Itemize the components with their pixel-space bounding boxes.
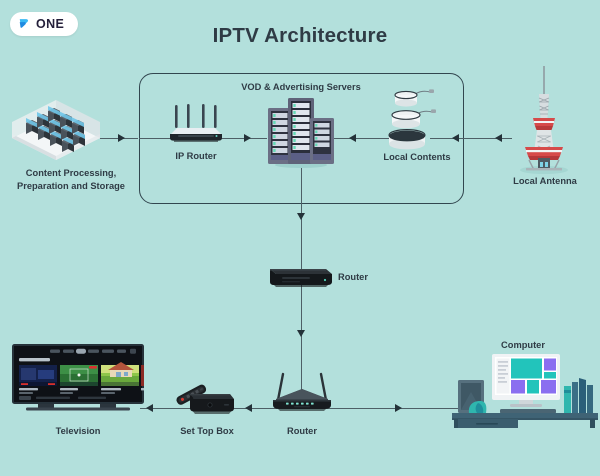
wifi-router-4-antenna-icon (164, 104, 228, 144)
label-vod-servers: VOD & Advertising Servers (222, 81, 380, 94)
label-router-mid: Router (338, 271, 398, 284)
arrowhead-left (349, 134, 356, 142)
wifi-router-2-antenna-icon (270, 368, 334, 412)
label-local-contents: Local Contents (372, 151, 462, 164)
node-ip-router[interactable] (164, 104, 228, 144)
arrowhead-left (495, 134, 502, 142)
arrowhead-down (297, 330, 305, 337)
arrowhead-right (118, 134, 125, 142)
node-television[interactable] (12, 344, 144, 414)
arrowhead-right (395, 404, 402, 412)
label-content-processing: Content Processing, Preparation and Stor… (0, 167, 142, 192)
node-local-contents[interactable] (386, 86, 442, 150)
label-ip-router: IP Router (156, 150, 236, 163)
arrowhead-left (245, 404, 252, 412)
data-center-isometric-icon (8, 100, 104, 166)
desktop-workstation-icon (452, 352, 598, 428)
node-router-mid[interactable] (266, 260, 336, 288)
node-computer[interactable] (452, 352, 598, 428)
smart-tv-icon (12, 344, 144, 414)
server-racks-icon (266, 94, 336, 168)
arrowhead-right (244, 134, 251, 142)
node-content-processing[interactable] (8, 100, 104, 166)
label-router-bottom: Router (262, 425, 342, 438)
label-television: Television (33, 425, 123, 438)
arrowhead-left (452, 134, 459, 142)
label-computer: Computer (478, 339, 568, 352)
set-top-box-remote-icon (174, 380, 236, 416)
node-set-top-box[interactable] (174, 380, 236, 416)
arrowhead-left (146, 404, 153, 412)
modem-box-icon (266, 260, 336, 288)
broadcast-tower-icon (514, 64, 574, 176)
stacked-database-icon (386, 86, 442, 150)
node-local-antenna[interactable] (514, 64, 574, 176)
node-router-bottom[interactable] (270, 368, 334, 412)
node-vod-servers[interactable] (266, 94, 336, 168)
arrowhead-down (297, 213, 305, 220)
label-set-top-box: Set Top Box (162, 425, 252, 438)
label-local-antenna: Local Antenna (500, 175, 590, 188)
page-title: IPTV Architecture (0, 24, 600, 48)
diagram-canvas: ONE IPTV Architecture (0, 0, 600, 476)
